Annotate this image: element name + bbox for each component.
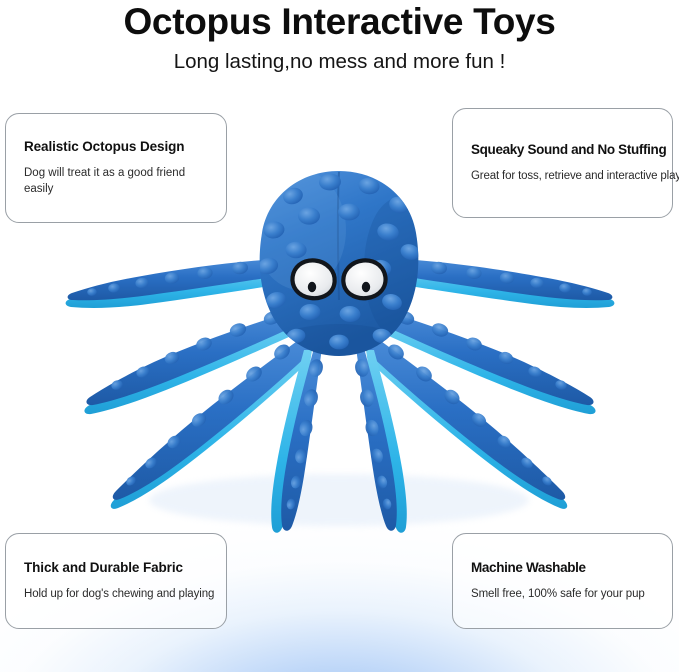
feature-box-machine-washable: Machine Washable Smell free, 100% safe f… (452, 533, 673, 629)
tentacle-group-front (111, 336, 567, 533)
tentacle-lower-right-outer (368, 336, 567, 509)
feature-description: Dog will treat it as a good friend easil… (24, 165, 208, 198)
feature-description: Great for toss, retrieve and interactive… (471, 168, 654, 184)
eye-right (343, 260, 385, 298)
tentacle-lower-right-inner (354, 348, 407, 533)
octopus-head (254, 170, 432, 372)
feature-box-thick-and-durable-fabric: Thick and Durable Fabric Hold up for dog… (5, 533, 227, 629)
tentacle-upper-left (66, 257, 304, 308)
tentacle-mid-right (378, 309, 596, 414)
tentacle-lower-left-inner (271, 348, 324, 533)
tentacle-group-back (66, 257, 615, 414)
feature-title: Machine Washable (471, 560, 654, 575)
page-subtitle: Long lasting,no mess and more fun ! (0, 50, 679, 75)
feature-description: Hold up for dog's chewing and playing (24, 586, 208, 602)
feature-title: Realistic Octopus Design (24, 139, 208, 154)
feature-title: Thick and Durable Fabric (24, 560, 208, 575)
feature-box-squeaky-sound-and-no-stuffing: Squeaky Sound and No Stuffing Great for … (452, 108, 673, 218)
pupil-left (308, 282, 316, 292)
feature-box-realistic-octopus-design: Realistic Octopus Design Dog will treat … (5, 113, 227, 223)
pupil-right (362, 282, 370, 292)
feature-description: Smell free, 100% safe for your pup (471, 586, 654, 602)
tentacle-upper-right (376, 257, 614, 308)
feature-title: Squeaky Sound and No Stuffing (471, 142, 654, 157)
eye-left (292, 260, 334, 298)
tentacle-lower-left-outer (111, 336, 310, 509)
infographic-canvas: Octopus Interactive Toys Long lasting,no… (0, 0, 679, 672)
page-title: Octopus Interactive Toys (0, 1, 679, 42)
tentacle-mid-left (84, 309, 302, 414)
